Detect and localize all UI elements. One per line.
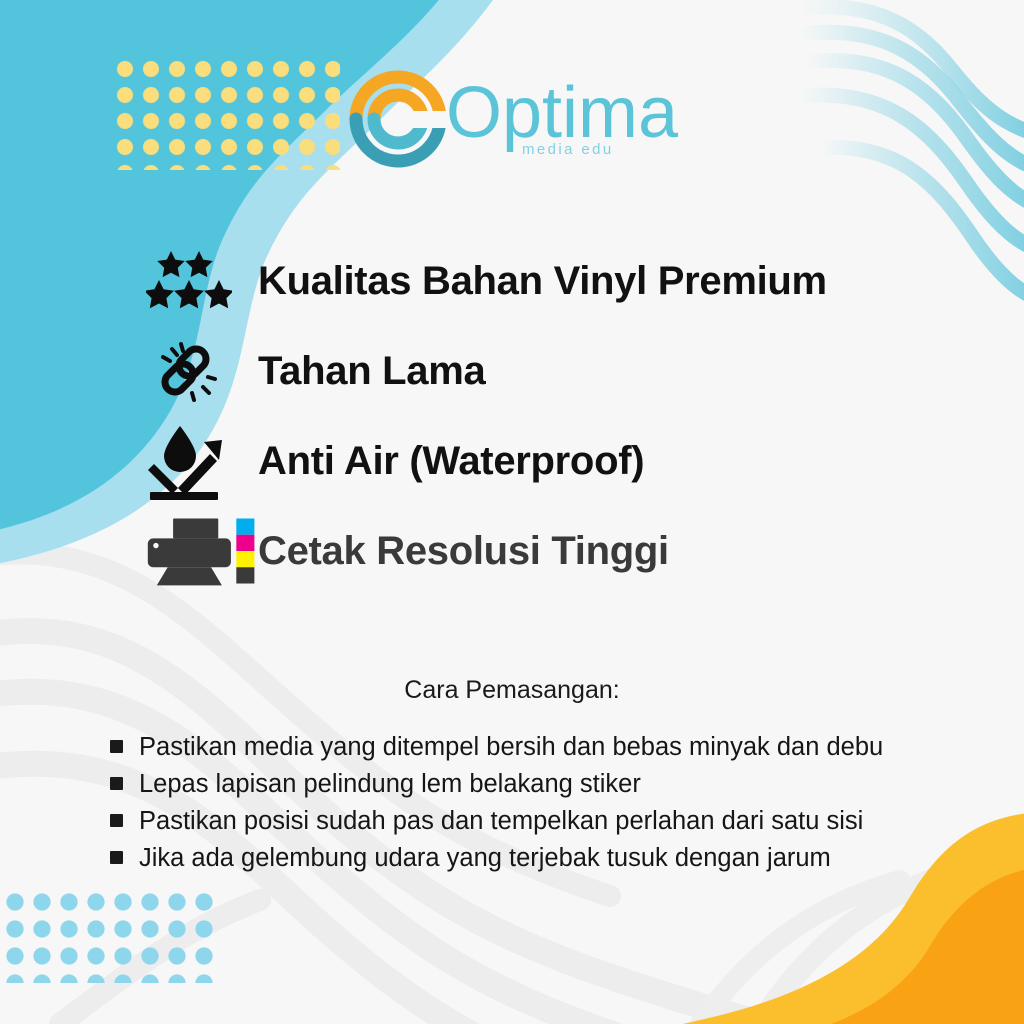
five-stars-icon [146, 249, 258, 313]
bullet-square-icon [110, 740, 123, 753]
feature-label: Cetak Resolusi Tinggi [258, 529, 669, 574]
feature-list: Kualitas Bahan Vinyl Premium [146, 236, 986, 596]
bullet-square-icon [110, 851, 123, 864]
feature-row-durability: Tahan Lama [146, 326, 986, 416]
howto-step-text: Jika ada gelembung udara yang terjebak t… [139, 842, 831, 876]
list-item: Lepas lapisan pelindung lem belakang sti… [110, 768, 960, 802]
cmyk-yellow [236, 551, 254, 567]
orange-blob-main [760, 866, 1024, 1024]
printer-cmyk-icon [146, 513, 258, 589]
feature-row-quality: Kualitas Bahan Vinyl Premium [146, 236, 986, 326]
cmyk-magenta [236, 535, 254, 551]
feature-label: Kualitas Bahan Vinyl Premium [258, 259, 827, 304]
gray-wave-lines-right [700, 870, 960, 1024]
howto-list: Pastikan media yang ditempel bersih dan … [110, 731, 960, 879]
feature-label: Anti Air (Waterproof) [258, 439, 644, 484]
list-item: Pastikan posisi sudah pas dan tempelkan … [110, 805, 960, 839]
poster-canvas: Optima media edu Kualitas Bahan Vinyl P [0, 0, 1024, 1024]
optima-ring-logo-icon [346, 67, 450, 171]
blue-dot-grid [6, 893, 218, 983]
list-item: Pastikan media yang ditempel bersih dan … [110, 731, 960, 765]
feature-row-resolution: Cetak Resolusi Tinggi [146, 506, 986, 596]
brand-name: Optima [446, 80, 678, 146]
waterproof-droplet-icon [146, 420, 258, 502]
list-item: Jika ada gelembung udara yang terjebak t… [110, 842, 960, 876]
feature-label: Tahan Lama [258, 349, 485, 394]
bullet-square-icon [110, 777, 123, 790]
brand-tagline: media edu [522, 141, 614, 158]
howto-step-text: Pastikan media yang ditempel bersih dan … [139, 731, 883, 765]
bullet-square-icon [110, 814, 123, 827]
howto-step-text: Pastikan posisi sudah pas dan tempelkan … [139, 805, 863, 839]
howto-step-text: Lepas lapisan pelindung lem belakang sti… [139, 768, 641, 802]
chain-link-icon [146, 331, 258, 411]
cmyk-black [236, 567, 254, 583]
cmyk-cyan [236, 518, 254, 534]
howto-title: Cara Pemasangan: [0, 676, 1024, 705]
feature-row-waterproof: Anti Air (Waterproof) [146, 416, 986, 506]
brand-logo: Optima media edu [0, 64, 1024, 174]
